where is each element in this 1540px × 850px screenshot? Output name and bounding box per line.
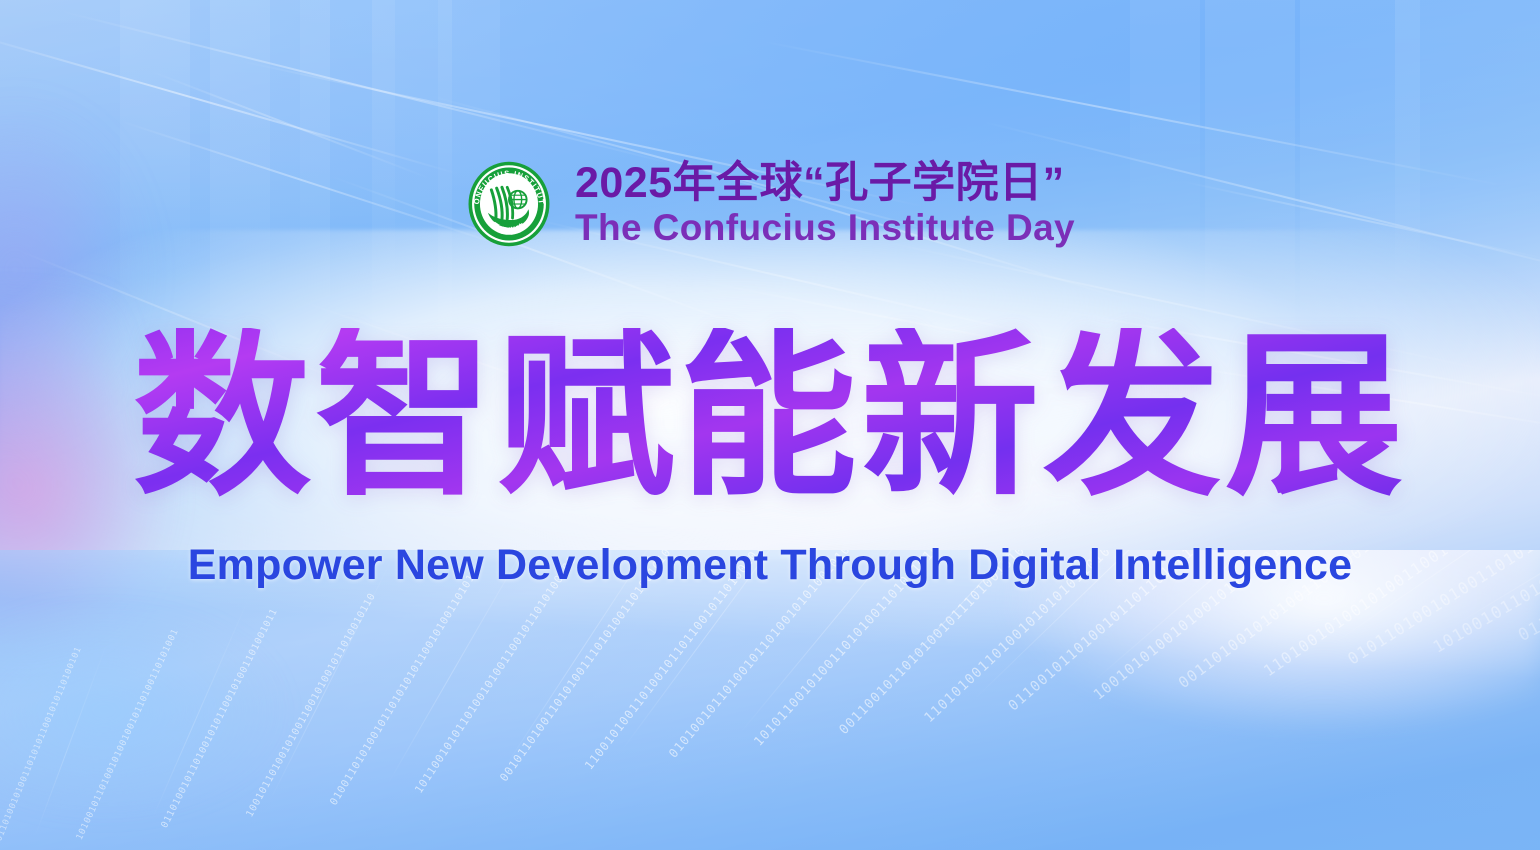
event-title-en: The Confucius Institute Day	[575, 208, 1075, 247]
main-headline: 数智赋能新发展	[0, 328, 1540, 506]
confucius-institute-day-banner: 1001010100101001011011010010110100101000…	[0, 0, 1540, 850]
event-lockup: CONFUCIUS INSTITUTE 孔子学院 2025年全球“孔子学院日” …	[0, 160, 1540, 248]
event-title-cn: 2025年全球“孔子学院日”	[575, 161, 1075, 206]
subtitle-english: Empower New Development Through Digital …	[0, 541, 1540, 590]
confucius-institute-logo-icon: CONFUCIUS INSTITUTE 孔子学院	[465, 160, 553, 248]
event-title-block: 2025年全球“孔子学院日” The Confucius Institute D…	[575, 161, 1075, 247]
